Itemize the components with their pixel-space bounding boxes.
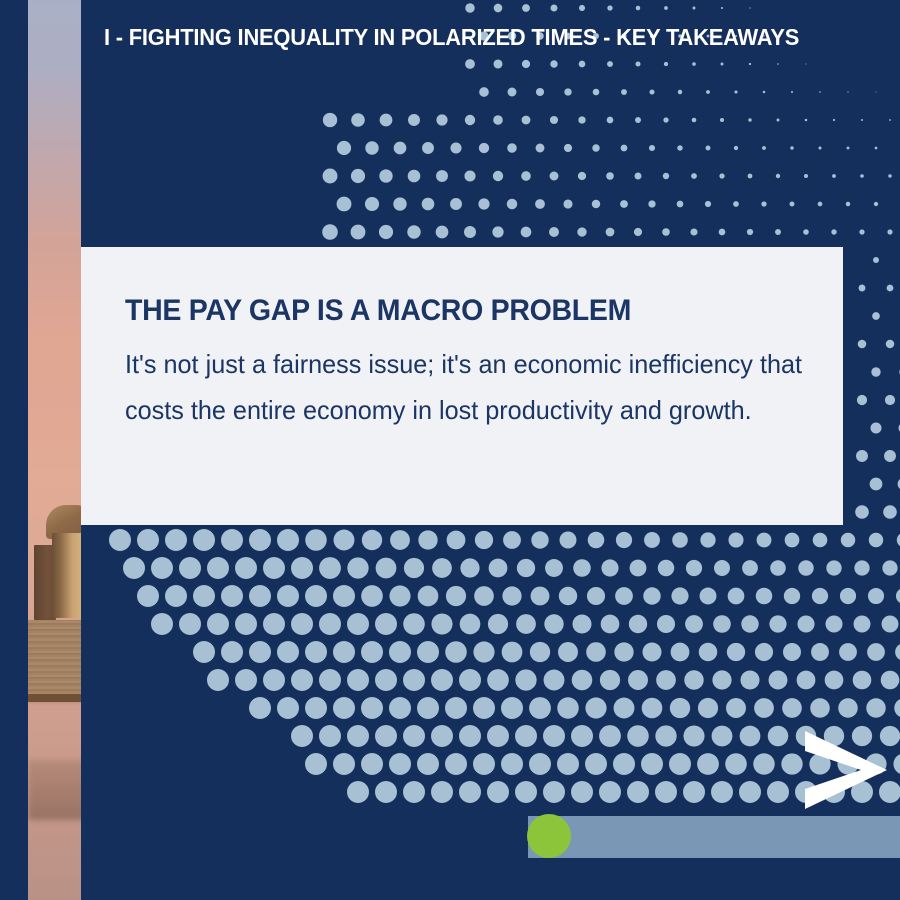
content-card-inner: THE PAY GAP IS A MACRO PROBLEM It's not … [125,295,801,433]
page-title: I - FIGHTING INEQUALITY IN POLARIZED TIM… [104,24,799,51]
photo-wood-plank [28,620,81,698]
card-body-text: It's not just a fairness issue; it's an … [125,341,802,433]
photo-wood-plank-edge [28,694,81,702]
chevron-right-icon[interactable] [803,729,889,811]
photo-ground-blur [28,760,81,820]
photo-sky [28,0,81,470]
card-heading: THE PAY GAP IS A MACRO PROBLEM [125,295,767,327]
progress-bar-knob[interactable] [527,814,571,858]
side-photo-strip [28,0,81,900]
photo-wood-block-body [52,533,81,618]
slide-canvas: I - FIGHTING INEQUALITY IN POLARIZED TIM… [0,0,900,900]
content-card: THE PAY GAP IS A MACRO PROBLEM It's not … [81,247,843,525]
progress-bar-track[interactable] [528,816,900,858]
